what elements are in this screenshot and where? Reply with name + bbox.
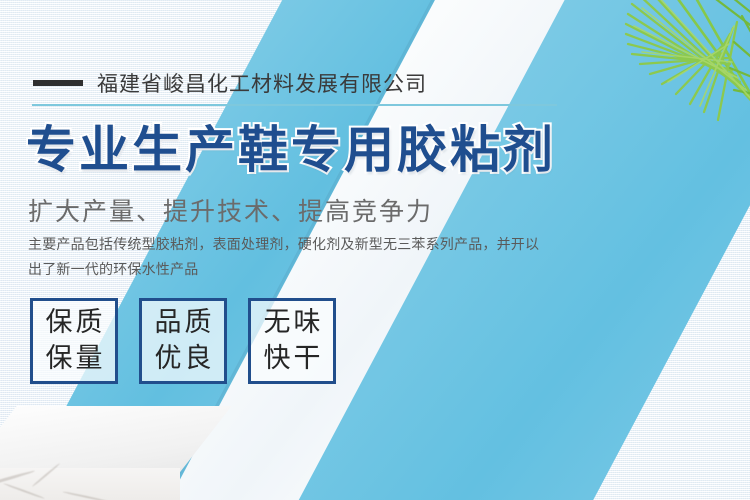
feature-line: 保质: [43, 305, 106, 341]
headline: 专业生产鞋专用胶粘剂: [26, 122, 556, 178]
promo-banner: 福建省峻昌化工材料发展有限公司 专业生产鞋专用胶粘剂 扩大产量、提升技术、提高竞…: [0, 0, 750, 500]
company-row: 福建省峻昌化工材料发展有限公司: [33, 68, 427, 98]
feature-box-quality-guarantee: 保质 保量: [30, 298, 118, 384]
dash-marker-icon: [33, 80, 83, 86]
subheadline: 扩大产量、提升技术、提高竞争力: [28, 192, 433, 228]
feature-box-group: 保质 保量 品质 优良 无味 快干: [30, 298, 336, 384]
feature-line: 保量: [43, 341, 106, 377]
horizontal-divider: [32, 104, 557, 106]
body-line-1: 主要产品包括传统型胶粘剂，表面处理剂，硬化剂及新型无三苯系列产品，并开以: [28, 232, 568, 257]
body-paragraph: 主要产品包括传统型胶粘剂，表面处理剂，硬化剂及新型无三苯系列产品，并开以 出了新…: [28, 232, 568, 281]
feature-line: 快干: [261, 341, 324, 377]
banner-content: 福建省峻昌化工材料发展有限公司 专业生产鞋专用胶粘剂 扩大产量、提升技术、提高竞…: [0, 0, 750, 500]
body-line-2: 出了新一代的环保水性产品: [28, 257, 568, 282]
feature-line: 品质: [152, 305, 215, 341]
feature-box-odorless-fastdry: 无味 快干: [248, 298, 336, 384]
feature-box-excellent-quality: 品质 优良: [139, 298, 227, 384]
feature-line: 无味: [261, 305, 324, 341]
company-name: 福建省峻昌化工材料发展有限公司: [97, 68, 427, 98]
feature-line: 优良: [152, 341, 215, 377]
